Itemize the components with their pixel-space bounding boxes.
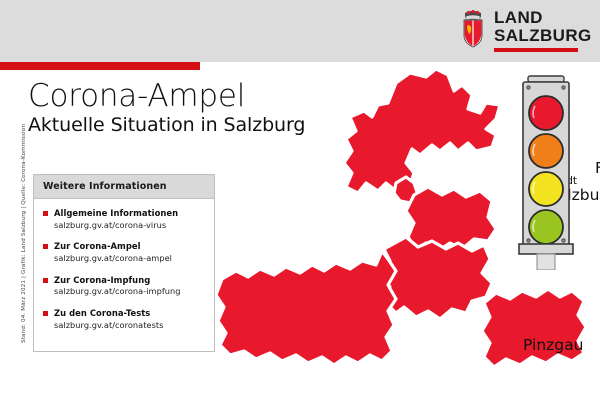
info-link-url[interactable]: salzburg.gv.at/corona-ampel [54, 253, 172, 265]
logo-line-1: LAND [494, 9, 592, 26]
map-region-pongau[interactable] [382, 237, 492, 319]
info-box: Weitere Informationen Allgemeine Informa… [33, 174, 215, 352]
map-region-flachgau[interactable] [344, 69, 500, 193]
info-box-heading: Weitere Informationen [43, 181, 167, 192]
info-box-body: Allgemeine Informationen salzburg.gv.at/… [34, 199, 214, 332]
info-link-item[interactable]: Allgemeine Informationen salzburg.gv.at/… [43, 208, 206, 231]
map-region-lungau[interactable] [482, 289, 586, 367]
info-link-url[interactable]: salzburg.gv.at/corona-impfung [54, 286, 180, 298]
logo-underline [494, 48, 578, 52]
info-link-item[interactable]: Zur Corona-Ampel salzburg.gv.at/corona-a… [43, 241, 206, 264]
info-link-item[interactable]: Zu den Corona-Tests salzburg.gv.at/coron… [43, 308, 206, 331]
map-region-tennengau[interactable] [406, 187, 496, 251]
info-link-item[interactable]: Zur Corona-Impfung salzburg.gv.at/corona… [43, 275, 206, 298]
map-label-flachgau: Flachgau [595, 159, 600, 177]
info-link-url[interactable]: salzburg.gv.at/coronatests [54, 320, 163, 332]
traffic-light-green [529, 210, 563, 244]
logo-line-2: SALZBURG [494, 27, 592, 44]
info-box-header: Weitere Informationen [34, 175, 214, 199]
info-link-url[interactable]: salzburg.gv.at/corona-virus [54, 220, 178, 232]
traffic-light-yellow [529, 172, 563, 206]
info-link-title: Zu den Corona-Tests [54, 308, 163, 319]
traffic-light-red [529, 96, 563, 130]
salzburg-coat-of-arms-icon [460, 10, 486, 48]
poster-canvas: LAND SALZBURG Corona-Ampel Aktuelle Situ… [0, 0, 600, 400]
info-link-title: Zur Corona-Ampel [54, 241, 172, 252]
bullet-square-icon [43, 311, 48, 316]
traffic-light [515, 74, 577, 270]
bullet-square-icon [43, 278, 48, 283]
bullet-square-icon [43, 244, 48, 249]
bullet-square-icon [43, 211, 48, 216]
map-region-pinzgau[interactable] [216, 251, 396, 365]
header-accent-bar [0, 62, 200, 70]
credit-line: Stand: 04. März 2021 | Grafik: Land Salz… [21, 143, 27, 343]
traffic-light-orange [529, 134, 563, 168]
info-link-title: Zur Corona-Impfung [54, 275, 180, 286]
info-link-title: Allgemeine Informationen [54, 208, 178, 219]
traffic-light-svg [515, 74, 577, 270]
land-salzburg-logo: LAND SALZBURG [460, 9, 582, 55]
map-label-pinzgau: Pinzgau [523, 336, 583, 354]
